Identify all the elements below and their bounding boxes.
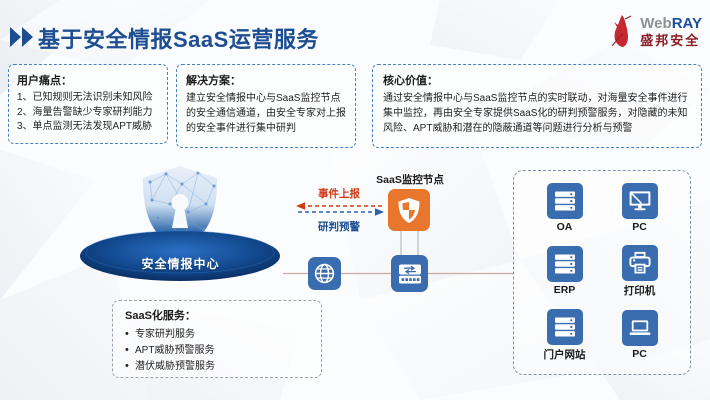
solution-box-title: 解决方案： [186, 72, 346, 88]
saas-monitoring-node[interactable] [388, 189, 430, 231]
pain-item: 1、已知规则无法识别未知风险 [17, 91, 159, 106]
logo-web-text: Web [640, 15, 671, 32]
dashed-arrow-left-icon [296, 202, 382, 210]
webray-figure-mark-icon [609, 13, 635, 49]
pain-box-title: 用户痛点： [17, 72, 159, 88]
solution-box: 解决方案： 建立安全情报中心与SaaS监控节点的安全通信通道，由安全专家对上报的… [176, 64, 356, 148]
network-switch-icon [397, 262, 423, 286]
device-label: PC [632, 221, 647, 233]
device-item-erp[interactable]: ERP [527, 240, 602, 304]
center-label: 安全情报中心 [78, 255, 283, 272]
laptop-icon [622, 310, 658, 346]
flow-down-label: 研判预警 [297, 219, 381, 234]
dashed-arrow-right-icon [298, 208, 384, 216]
value-box-body: 通过安全情报中心与SaaS监控节点的实时联动，对海量安全事件进行集中监控，再由安… [383, 91, 691, 136]
device-label: ERP [554, 284, 576, 296]
device-label: PC [632, 348, 647, 360]
slide-canvas: 基于安全情报SaaS运营服务 WebRAY 盛邦安全 用户痛点： 1、已知规则无… [0, 0, 710, 400]
core-value-box: 核心价值： 通过安全情报中心与SaaS监控节点的实时联动，对海量安全事件进行集中… [372, 64, 702, 148]
device-item-printer[interactable]: 打印机 [602, 240, 677, 304]
server-stack-icon [547, 246, 583, 282]
logo-ray-text: RAY [672, 15, 702, 32]
device-label: 打印机 [624, 283, 656, 298]
device-item-oa[interactable]: OA [527, 176, 602, 240]
bidirectional-dashed-arrows [294, 200, 386, 218]
saas-service-item: 专家研判服务 [123, 327, 311, 343]
network-switch-node[interactable] [391, 255, 428, 292]
flow-up-label: 事件上报 [297, 186, 381, 201]
server-stack-icon [547, 183, 583, 219]
server-stack-icon [547, 309, 583, 345]
device-label: 门户网站 [544, 347, 586, 362]
device-item-pc-monitor[interactable]: PC [602, 176, 677, 240]
device-item-pc-laptop[interactable]: PC [602, 303, 677, 367]
saas-box-title: SaaS化服务： [125, 307, 311, 323]
saas-service-item: APT威胁预警服务 [123, 343, 311, 359]
saas-service-list: 专家研判服务 APT威胁预警服务 潜伏威胁预警服务 [123, 327, 311, 376]
shield-quadrant-icon [397, 197, 421, 224]
saas-service-item: 潜伏威胁预警服务 [123, 359, 311, 375]
value-box-title: 核心价值： [383, 72, 691, 88]
logo-wordmark: WebRAY [640, 16, 702, 31]
desktop-monitor-icon [622, 183, 658, 219]
slide-header: 基于安全情报SaaS运营服务 WebRAY 盛邦安全 [0, 0, 710, 60]
user-pain-points-box: 用户痛点： 1、已知规则无法识别未知风险 2、海量告警缺少专家研判能力 3、单点… [8, 64, 168, 144]
saas-services-box: SaaS化服务： 专家研判服务 APT威胁预警服务 潜伏威胁预警服务 [112, 300, 322, 378]
device-label: OA [557, 221, 573, 233]
solution-box-body: 建立安全情报中心与SaaS监控节点的安全通信通道，由安全专家对上报的安全事件进行… [186, 91, 346, 136]
internet-globe-node[interactable] [308, 257, 341, 290]
double-chevron-right-icon [10, 27, 33, 47]
page-title: 基于安全情报SaaS运营服务 [38, 22, 319, 54]
saas-node-title: SaaS监控节点 [368, 172, 452, 187]
logo-chinese-text: 盛邦安全 [640, 34, 702, 47]
pain-item: 2、海量告警缺少专家研判能力 [17, 106, 159, 121]
device-item-portal[interactable]: 门户网站 [527, 303, 602, 367]
globe-icon [314, 263, 335, 284]
pain-item: 3、单点监测无法发现APT威胁 [17, 120, 159, 135]
device-grid: OA PC [513, 170, 691, 375]
printer-icon [622, 245, 658, 281]
brand-logo: WebRAY 盛邦安全 [609, 11, 702, 51]
